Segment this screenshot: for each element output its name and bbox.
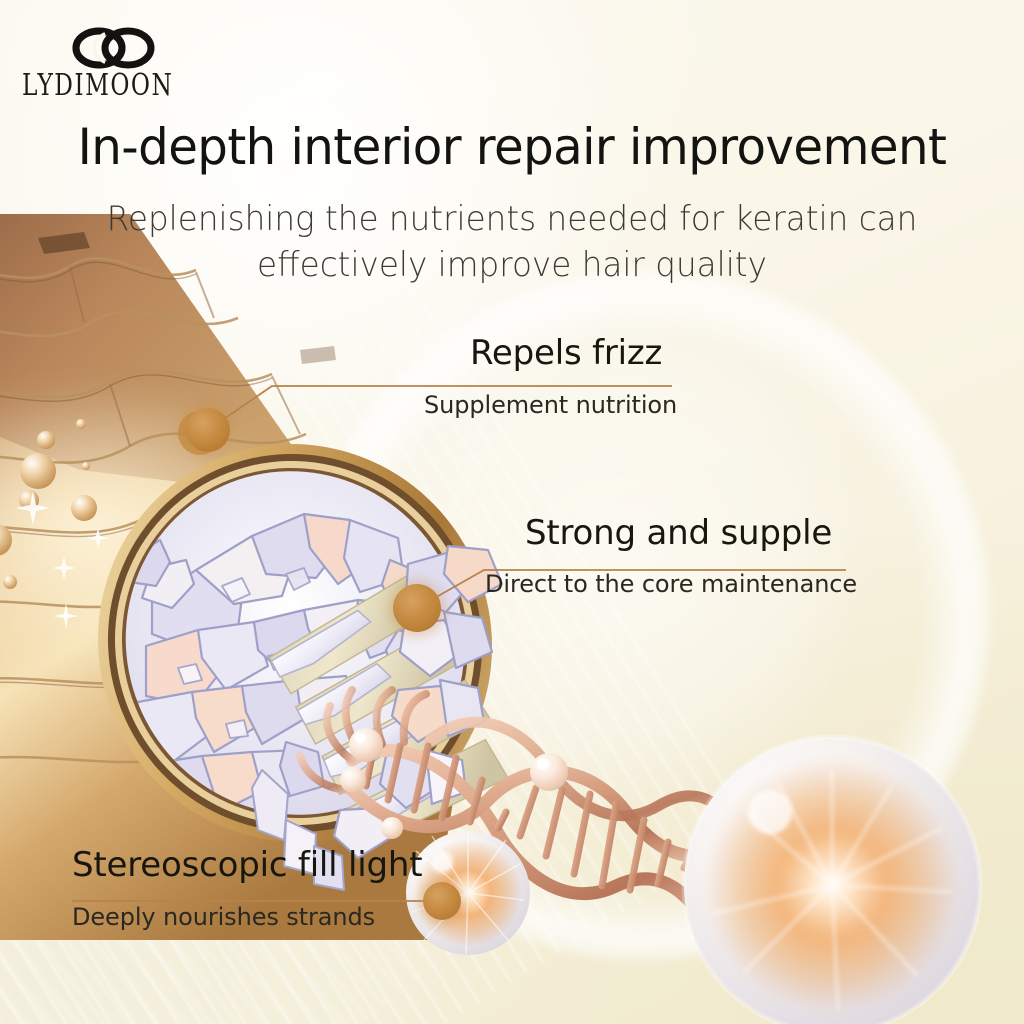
page-subtitle-line-1: Replenishing the nutrients needed for ke…	[107, 199, 918, 239]
callout-1-title: Repels frizz	[470, 333, 677, 373]
page-title: In-depth interior repair improvement	[18, 118, 1006, 176]
callout-repels-frizz: Repels frizz Supplement nutrition	[470, 333, 677, 419]
marker-dot-1	[186, 408, 230, 452]
marker-dot-3	[423, 882, 461, 920]
brand-logo: LYDIMOON	[22, 26, 222, 97]
callout-strong-and-supple: Strong and supple Direct to the core mai…	[525, 513, 857, 598]
brand-wordmark: LYDIMOON	[22, 68, 208, 102]
callout-3-subtitle: Deeply nourishes strands	[72, 903, 422, 931]
callout-stereoscopic-fill-light: Stereoscopic fill light Deeply nourishes…	[72, 845, 422, 931]
callout-2-subtitle: Direct to the core maintenance	[485, 570, 857, 598]
callout-3-title: Stereoscopic fill light	[72, 845, 422, 885]
product-info-poster: LYDIMOON In-depth interior repair improv…	[0, 0, 1024, 1024]
interlocking-rings-icon	[66, 26, 162, 70]
callout-1-subtitle: Supplement nutrition	[424, 391, 677, 419]
page-subtitle: Replenishing the nutrients needed for ke…	[20, 196, 1003, 288]
callout-2-title: Strong and supple	[525, 513, 857, 553]
marker-dot-2	[393, 584, 441, 632]
page-subtitle-line-2: effectively improve hair quality	[20, 242, 1003, 288]
